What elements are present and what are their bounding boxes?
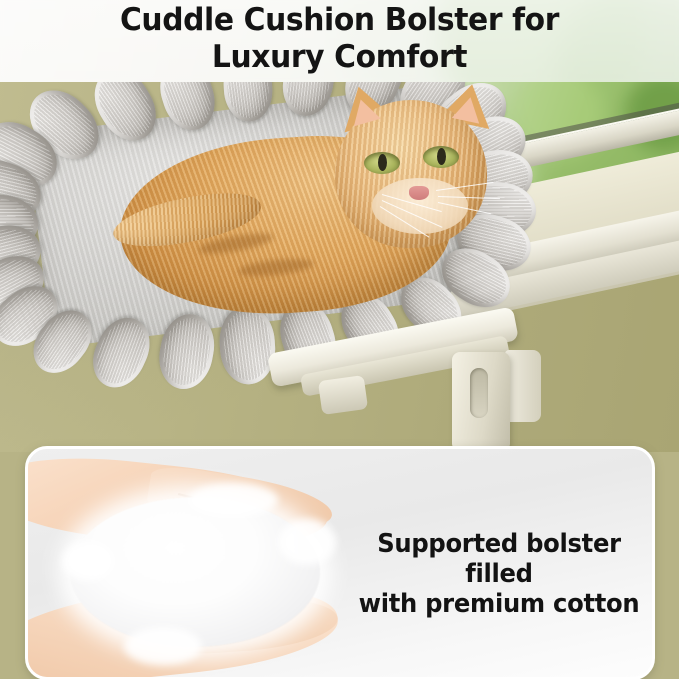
cat-pupil-right — [437, 148, 446, 165]
page-title: Cuddle Cushion Bolster for Luxury Comfor… — [14, 2, 666, 76]
feature-card: Supported bolster filled with premium co… — [25, 446, 655, 679]
mount-bracket-hook — [505, 350, 541, 422]
feature-caption: Supported bolster filled with premium co… — [352, 529, 647, 619]
cotton-wisp — [62, 541, 114, 581]
cotton-wisp — [278, 519, 336, 565]
cat — [120, 90, 520, 320]
mount-bracket-slot — [470, 368, 488, 418]
title-line-1: Cuddle Cushion Bolster for — [14, 2, 666, 39]
product-infographic: Cuddle Cushion Bolster for Luxury Comfor… — [0, 0, 679, 679]
title-line-2: Luxury Comfort — [14, 39, 666, 76]
cotton-photo — [28, 449, 358, 677]
caption-line-1: Supported bolster filled — [352, 529, 647, 589]
cotton-wisp — [124, 627, 202, 665]
header-banner: Cuddle Cushion Bolster for Luxury Comfor… — [0, 0, 679, 82]
cat-pupil-left — [378, 154, 387, 171]
caption-line-2: with premium cotton — [352, 589, 647, 619]
cotton-wisp — [188, 483, 278, 517]
cat-nose — [409, 186, 429, 200]
mount-bracket-foot — [318, 375, 368, 415]
